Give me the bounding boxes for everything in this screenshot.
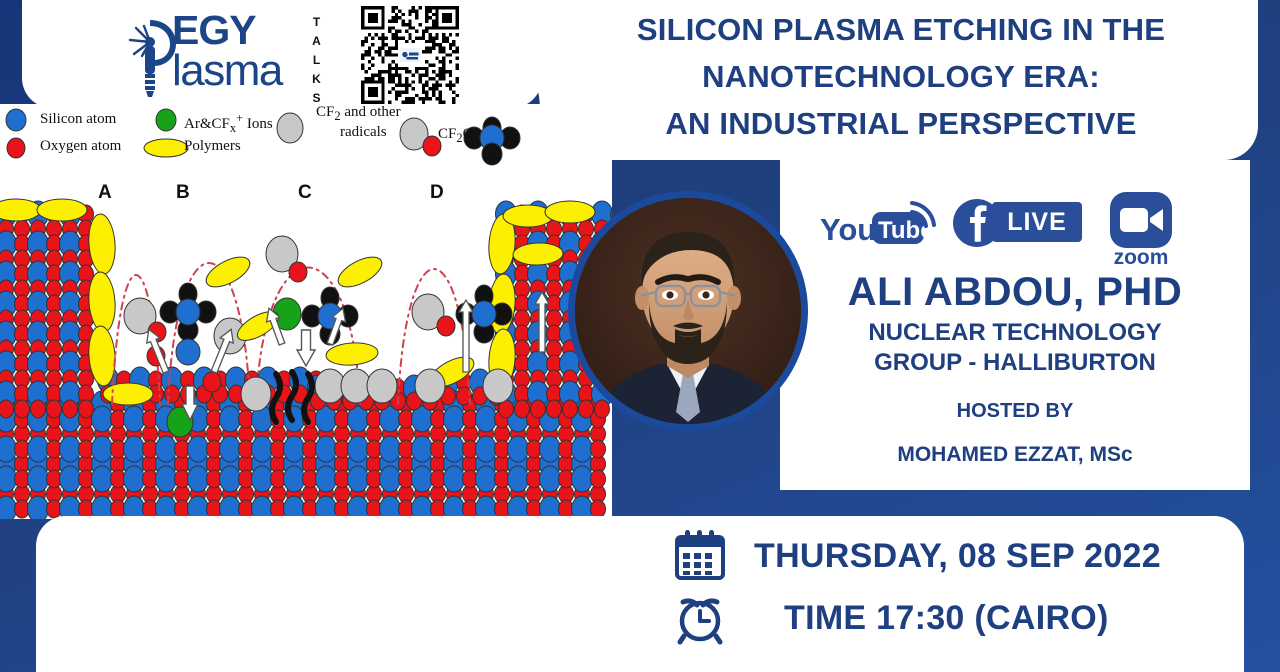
title-line-3: AN INDUSTRIAL PERSPECTIVE xyxy=(556,100,1246,147)
legend-label-oxygen: Oxygen atom xyxy=(40,138,121,155)
event-time: TIME 17:30 (CAIRO) xyxy=(784,599,1109,638)
panel-label-c: C xyxy=(298,182,312,204)
broadcast-channels: You Tube LIVE xyxy=(780,192,1250,266)
qr-code[interactable] xyxy=(358,6,462,104)
event-date: THURSDAY, 08 SEP 2022 xyxy=(754,537,1161,576)
brand-logo-text: EGY lasma xyxy=(172,10,282,91)
page-title: SILICON PLASMA ETCHING IN THE NANOTECHNO… xyxy=(556,6,1246,147)
plasma-bulb-icon xyxy=(120,16,180,98)
event-date-row: THURSDAY, 08 SEP 2022 xyxy=(672,528,1161,584)
host-name: MOHAMED EZZAT, MSc xyxy=(780,443,1250,467)
hosted-by-label: HOSTED BY xyxy=(780,400,1250,423)
diagram-legend: Silicon atom Ar&CFx+ Ions CF2 and otherr… xyxy=(6,110,606,166)
svg-text:zoom: zoom xyxy=(1114,246,1169,266)
alarm-clock-icon xyxy=(672,590,728,646)
zoom-icon[interactable]: zoom xyxy=(1098,192,1184,271)
title-line-1: SILICON PLASMA ETCHING IN THE xyxy=(556,6,1246,53)
speaker-info-panel: You Tube LIVE xyxy=(780,160,1250,490)
live-badge: LIVE xyxy=(992,202,1082,242)
affiliation-line-2: GROUP - HALLIBURTON xyxy=(780,348,1250,378)
speaker-affiliation: NUCLEAR TECHNOLOGY GROUP - HALLIBURTON xyxy=(780,318,1250,378)
logo-talks-text: TALKS xyxy=(306,13,328,108)
speaker-portrait xyxy=(568,191,808,431)
panel-label-d: D xyxy=(430,182,444,204)
title-line-2: NANOTECHNOLOGY ERA: xyxy=(556,53,1246,100)
legend-label-ions: Ar&CFx+ Ions xyxy=(184,111,273,136)
speaker-name: ALI ABDOU, PHD xyxy=(780,270,1250,315)
affiliation-line-1: NUCLEAR TECHNOLOGY xyxy=(780,318,1250,348)
calendar-icon xyxy=(672,528,728,584)
legend-label-polymers: Polymers xyxy=(184,138,241,155)
svg-text:You: You xyxy=(820,212,876,247)
legend-label-cf2o: CF2O xyxy=(438,126,473,146)
legend-label-silicon: Silicon atom xyxy=(40,111,116,128)
youtube-icon[interactable]: You Tube xyxy=(820,200,938,259)
brand-logo[interactable]: EGY lasma TALKS xyxy=(120,8,330,103)
event-time-row: TIME 17:30 (CAIRO) xyxy=(672,590,1109,646)
bottom-curve-divider xyxy=(470,440,670,560)
poster-root: EGY lasma TALKS SILICON PLASMA ETCHING I… xyxy=(0,0,1280,672)
logo-plasma-text: lasma xyxy=(172,51,282,91)
legend-label-radicals: CF2 and otherradicals xyxy=(316,104,401,141)
panel-label-b: B xyxy=(176,182,190,204)
logo-egy-text: EGY xyxy=(172,10,282,50)
panel-label-a: A xyxy=(98,182,112,204)
